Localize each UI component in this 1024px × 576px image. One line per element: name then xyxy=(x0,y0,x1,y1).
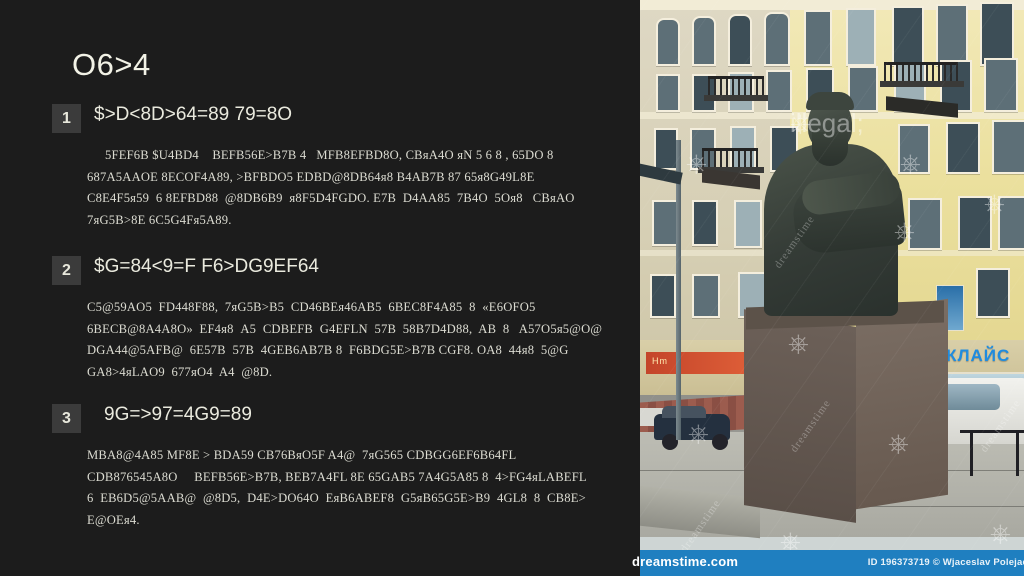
slide-photo: Hm БАРКЛАЙС Б xyxy=(640,0,1024,576)
section-3-heading: 9G=>97=4G9=89 xyxy=(104,404,252,426)
pedestal-side-face xyxy=(856,299,948,510)
section-1-number-badge: 1 xyxy=(52,104,81,133)
car-wheel xyxy=(712,434,728,450)
window xyxy=(998,196,1024,250)
window xyxy=(692,200,718,246)
section-3: 3 9G=>97=4G9=89 MBA8@4A85 MF8E > BDA59 C… xyxy=(52,404,632,531)
section-2: 2 $G=84<9=F F6>DG9EF64 C5@59AO5 FD448F88… xyxy=(52,256,632,383)
window xyxy=(804,10,832,66)
window xyxy=(946,122,980,174)
section-2-header: 2 $G=84<9=F F6>DG9EF64 xyxy=(52,256,632,286)
slide-canvas: O6>4 1 $>D<8D>64=89 79=8O 5FEF6B $U4BD4 … xyxy=(0,0,1024,576)
window xyxy=(728,14,752,66)
section-3-body: MBA8@4A85 MF8E > BDA59 CB76BяO5F A4@ 7яG… xyxy=(87,445,632,531)
window xyxy=(650,274,676,318)
section-3-line-1: MBA8@4A85 MF8E > BDA59 CB76BяO5F A4@ 7яG… xyxy=(87,445,632,467)
window xyxy=(692,274,720,318)
window xyxy=(992,120,1024,174)
section-1-line-1: 5FEF6B $U4BD4 BEFB56E>B7B 4 MFB8EFBD8O, … xyxy=(87,145,632,167)
window xyxy=(908,198,942,250)
pedestal-front-face xyxy=(744,309,856,523)
bronze-statue xyxy=(758,88,904,314)
window xyxy=(976,268,1010,318)
window xyxy=(656,74,680,112)
section-1-line-4: 7яG5B>8E 6C5G4Fя5A89. xyxy=(87,210,632,232)
section-3-line-3: 6 EB6D5@5AAB@ @8D5, D4E>DO64O EяB6ABEF8 … xyxy=(87,488,632,510)
section-1: 1 $>D<8D>64=89 79=8O 5FEF6B $U4BD4 BEFB5… xyxy=(52,104,632,231)
section-1-heading: $>D<8D>64=89 79=8O xyxy=(94,104,292,126)
window xyxy=(692,16,716,66)
window xyxy=(764,12,790,66)
statue-cap xyxy=(806,92,854,110)
section-2-line-3: DGA44@5AFB@ 6E57B 57B 4GEB6AB7B 8 F6BDG5… xyxy=(87,340,632,362)
railing-post xyxy=(970,430,973,476)
slide-content-pane: O6>4 1 $>D<8D>64=89 79=8O 5FEF6B $U4BD4 … xyxy=(0,0,640,576)
page-title: O6>4 xyxy=(72,47,151,83)
window xyxy=(980,2,1014,66)
window xyxy=(984,58,1018,112)
section-2-line-2: 6BECB@8A4A8O» EF4я8 A5 CDBEFB G4EFLN 57B… xyxy=(87,319,632,341)
section-2-body: C5@59AO5 FD448F88, 7яG5B>B5 CD46BEя46AB5… xyxy=(87,297,632,383)
photo-credit-label: ID 196373719 © Wjaceslav Polejae xyxy=(868,557,1024,568)
section-1-line-2: 687A5AAOE 8ECOF4A89, >BFBDO5 EDBD@8DB64я… xyxy=(87,167,632,189)
window xyxy=(892,6,924,66)
statue-pedestal xyxy=(744,300,948,526)
section-2-heading: $G=84<9=F F6>DG9EF64 xyxy=(94,256,319,278)
balcony-slab xyxy=(880,81,964,87)
section-2-line-4: GA8>4яLAO9 677яO4 A4 @8D. xyxy=(87,362,632,384)
window xyxy=(936,4,968,66)
statue-beard xyxy=(812,132,848,166)
railing-post xyxy=(1016,430,1019,476)
window xyxy=(656,18,680,66)
window xyxy=(958,196,992,250)
section-3-number-badge: 3 xyxy=(52,404,81,433)
window xyxy=(652,200,678,246)
section-1-header: 1 $>D<8D>64=89 79=8O xyxy=(52,104,632,134)
section-2-number-badge: 2 xyxy=(52,256,81,285)
section-3-line-4: E@OEя4. xyxy=(87,510,632,532)
dreamstime-brand-label: dreamstime.com xyxy=(632,554,738,569)
section-3-line-2: CDB876545A8O BEFB56E>B7B, BEB7A4FL 8E 65… xyxy=(87,467,632,489)
section-1-line-3: C8E4F5я59 6 8EFBD88 @8DB6B9 я8F5D4FGDO. … xyxy=(87,188,632,210)
section-1-body: 5FEF6B $U4BD4 BEFB56E>B7B 4 MFB8EFBD8O, … xyxy=(87,145,632,231)
photo-footer-bar: dreamstime.com ID 196373719 © Wjaceslav … xyxy=(640,550,1024,576)
section-3-header: 3 9G=>97=4G9=89 xyxy=(52,404,632,434)
lamp-post xyxy=(676,140,681,440)
window xyxy=(654,128,678,170)
van-windshield xyxy=(942,384,1000,410)
window xyxy=(846,8,876,66)
section-2-line-1: C5@59AO5 FD448F88, 7яG5B>B5 CD46BEя46AB5… xyxy=(87,297,632,319)
